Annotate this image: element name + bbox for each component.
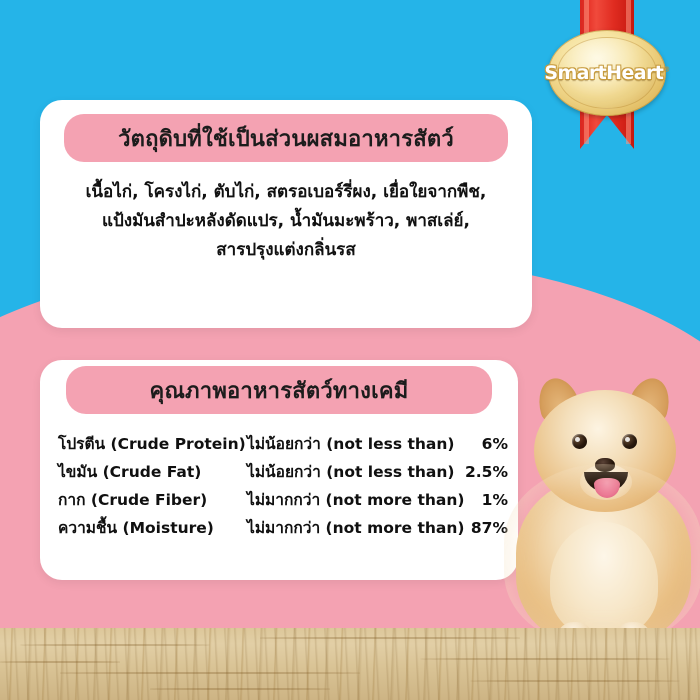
ingredients-line: แป้งมันสำปะหลังดัดแปร, น้ำมันมะพร้าว, พา… bbox=[66, 207, 506, 236]
wood-grain-line bbox=[60, 672, 360, 674]
wood-grain-line bbox=[420, 658, 670, 660]
wood-grain-line bbox=[260, 637, 520, 639]
ingredients-title: วัตถุดิบที่ใช้เป็นส่วนผสมอาหารสัตว์ bbox=[118, 121, 454, 156]
nutrient-qualifier: ไม่มากกว่า (not more than) bbox=[247, 514, 464, 542]
wooden-floor bbox=[0, 628, 700, 700]
product-info-graphic: SmartHeart® วัตถุดิบที่ใช้เป็นส่วนผสมอาห… bbox=[0, 0, 700, 700]
dog-fur-highlight bbox=[504, 464, 700, 644]
dog-eye-right bbox=[622, 434, 637, 449]
table-row: กาก (Crude Fiber) ไม่มากกว่า (not more t… bbox=[58, 486, 508, 514]
medal-icon: SmartHeart® bbox=[548, 30, 666, 116]
analysis-card-header: คุณภาพอาหารสัตว์ทางเคมี bbox=[66, 366, 492, 414]
analysis-title: คุณภาพอาหารสัตว์ทางเคมี bbox=[150, 373, 409, 408]
trademark-symbol: ® bbox=[663, 66, 669, 74]
nutrient-qualifier: ไม่น้อยกว่า (not less than) bbox=[247, 430, 464, 458]
ingredients-line: สารปรุงแต่งกลิ่นรส bbox=[66, 236, 506, 265]
guaranteed-analysis-table: โปรตีน (Crude Protein) ไม่น้อยกว่า (not … bbox=[58, 430, 508, 542]
wood-grain-line bbox=[0, 661, 120, 663]
nutrient-qualifier: ไม่มากกว่า (not more than) bbox=[247, 486, 464, 514]
ingredients-card: วัตถุดิบที่ใช้เป็นส่วนผสมอาหารสัตว์ เนื้… bbox=[40, 100, 532, 328]
wood-grain-line bbox=[150, 688, 330, 690]
table-row: ไขมัน (Crude Fat) ไม่น้อยกว่า (not less … bbox=[58, 458, 508, 486]
dog-eye-left bbox=[572, 434, 587, 449]
nutrient-name: โปรตีน (Crude Protein) bbox=[58, 430, 247, 458]
nutrient-qualifier: ไม่น้อยกว่า (not less than) bbox=[247, 458, 464, 486]
wood-grain-line bbox=[470, 680, 680, 682]
ingredients-line: เนื้อไก่, โครงไก่, ตับไก่, สตรอเบอร์รี่ผ… bbox=[66, 178, 506, 207]
nutrient-name: ความชื้น (Moisture) bbox=[58, 514, 247, 542]
smartheart-logo: SmartHeart® bbox=[548, 0, 666, 158]
table-row: โปรตีน (Crude Protein) ไม่น้อยกว่า (not … bbox=[58, 430, 508, 458]
brand-name: SmartHeart® bbox=[544, 62, 669, 84]
ingredients-card-header: วัตถุดิบที่ใช้เป็นส่วนผสมอาหารสัตว์ bbox=[64, 114, 508, 162]
analysis-card: คุณภาพอาหารสัตว์ทางเคมี โปรตีน (Crude Pr… bbox=[40, 360, 518, 580]
wood-grain-line bbox=[20, 644, 210, 646]
nutrient-name: กาก (Crude Fiber) bbox=[58, 486, 247, 514]
table-row: ความชื้น (Moisture) ไม่มากกว่า (not more… bbox=[58, 514, 508, 542]
pomeranian-dog-photo bbox=[498, 372, 700, 642]
ingredients-list: เนื้อไก่, โครงไก่, ตับไก่, สตรอเบอร์รี่ผ… bbox=[40, 178, 532, 265]
nutrient-name: ไขมัน (Crude Fat) bbox=[58, 458, 247, 486]
